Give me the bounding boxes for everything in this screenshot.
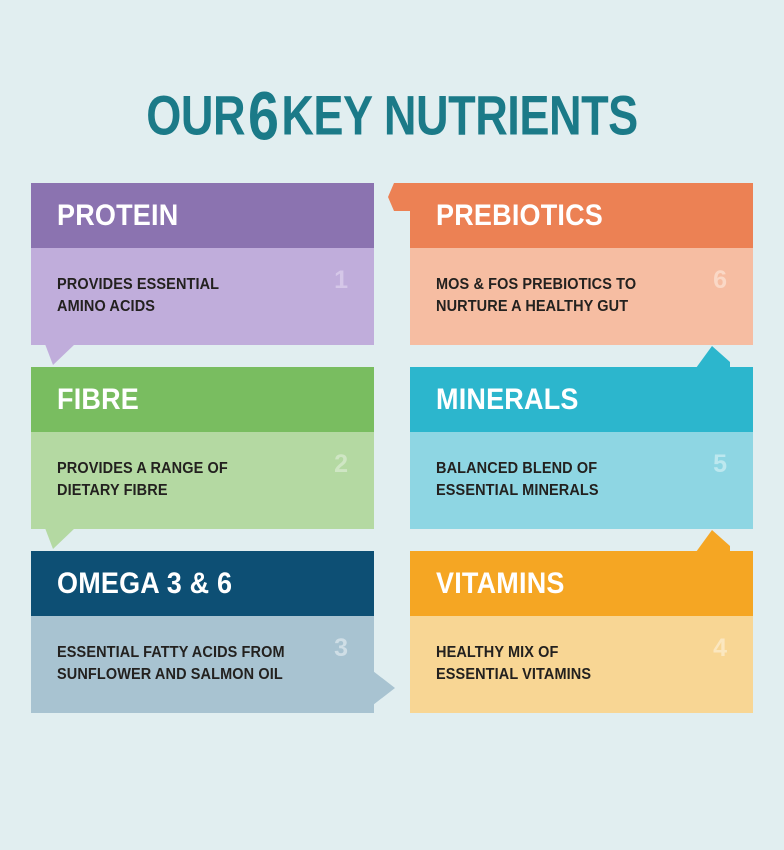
card-title: OMEGA 3 & 6 — [57, 569, 232, 599]
card-body: HEALTHY MIX OF ESSENTIAL VITAMINS 4 — [410, 616, 753, 713]
card-body: ESSENTIAL FATTY ACIDS FROM SUNFLOWER AND… — [31, 616, 374, 713]
card-header: PROTEIN — [31, 183, 374, 248]
card-number-badge: 2 — [334, 452, 348, 477]
card-body: PROVIDES A RANGE OF DIETARY FIBRE 2 — [31, 432, 374, 529]
page-title-number: 6 — [245, 78, 281, 155]
tail-pointer-down-icon — [45, 344, 75, 365]
nutrient-card-prebiotics[interactable]: PREBIOTICS MOS & FOS PREBIOTICS TO NURTU… — [410, 183, 753, 345]
card-number-badge: 4 — [713, 636, 727, 661]
nutrient-card-fibre[interactable]: FIBRE PROVIDES A RANGE OF DIETARY FIBRE … — [31, 367, 374, 529]
card-description: PROVIDES A RANGE OF DIETARY FIBRE — [57, 458, 307, 502]
card-header: FIBRE — [31, 367, 374, 432]
page-title-prefix: OUR — [146, 84, 245, 147]
card-number-badge: 6 — [713, 268, 727, 293]
tail-pointer-left-icon — [388, 183, 411, 223]
card-description: HEALTHY MIX OF ESSENTIAL VITAMINS — [436, 642, 686, 686]
nutrient-card-omega[interactable]: OMEGA 3 & 6 ESSENTIAL FATTY ACIDS FROM S… — [31, 551, 374, 713]
card-header: MINERALS — [410, 367, 753, 432]
card-title: VITAMINS — [436, 569, 565, 599]
page-title-suffix: KEY NUTRIENTS — [281, 84, 637, 147]
tail-pointer-up-icon — [696, 346, 730, 368]
nutrient-card-minerals[interactable]: MINERALS BALANCED BLEND OF ESSENTIAL MIN… — [410, 367, 753, 529]
card-header: VITAMINS — [410, 551, 753, 616]
card-description: BALANCED BLEND OF ESSENTIAL MINERALS — [436, 458, 686, 502]
card-number-badge: 3 — [334, 636, 348, 661]
card-description: PROVIDES ESSENTIAL AMINO ACIDS — [57, 274, 307, 318]
card-description: MOS & FOS PREBIOTICS TO NURTURE A HEALTH… — [436, 274, 686, 318]
tail-pointer-up-icon — [696, 530, 730, 552]
card-title: MINERALS — [436, 385, 579, 415]
nutrient-card-protein[interactable]: PROTEIN PROVIDES ESSENTIAL AMINO ACIDS 1 — [31, 183, 374, 345]
tail-pointer-right-icon — [373, 671, 395, 705]
page-header: OUR6KEY NUTRIENTS — [0, 78, 784, 136]
card-title: PREBIOTICS — [436, 201, 603, 231]
card-body: MOS & FOS PREBIOTICS TO NURTURE A HEALTH… — [410, 248, 753, 345]
nutrient-card-vitamins[interactable]: VITAMINS HEALTHY MIX OF ESSENTIAL VITAMI… — [410, 551, 753, 713]
tail-pointer-down-icon — [45, 528, 75, 549]
card-body: BALANCED BLEND OF ESSENTIAL MINERALS 5 — [410, 432, 753, 529]
card-header: OMEGA 3 & 6 — [31, 551, 374, 616]
nutrient-card-grid: PROTEIN PROVIDES ESSENTIAL AMINO ACIDS 1… — [31, 183, 753, 713]
card-header: PREBIOTICS — [410, 183, 753, 248]
card-description: ESSENTIAL FATTY ACIDS FROM SUNFLOWER AND… — [57, 642, 307, 686]
page-title: OUR6KEY NUTRIENTS — [146, 78, 638, 146]
card-number-badge: 1 — [334, 268, 348, 293]
card-title: PROTEIN — [57, 201, 178, 231]
card-title: FIBRE — [57, 385, 139, 415]
card-body: PROVIDES ESSENTIAL AMINO ACIDS 1 — [31, 248, 374, 345]
card-number-badge: 5 — [713, 452, 727, 477]
